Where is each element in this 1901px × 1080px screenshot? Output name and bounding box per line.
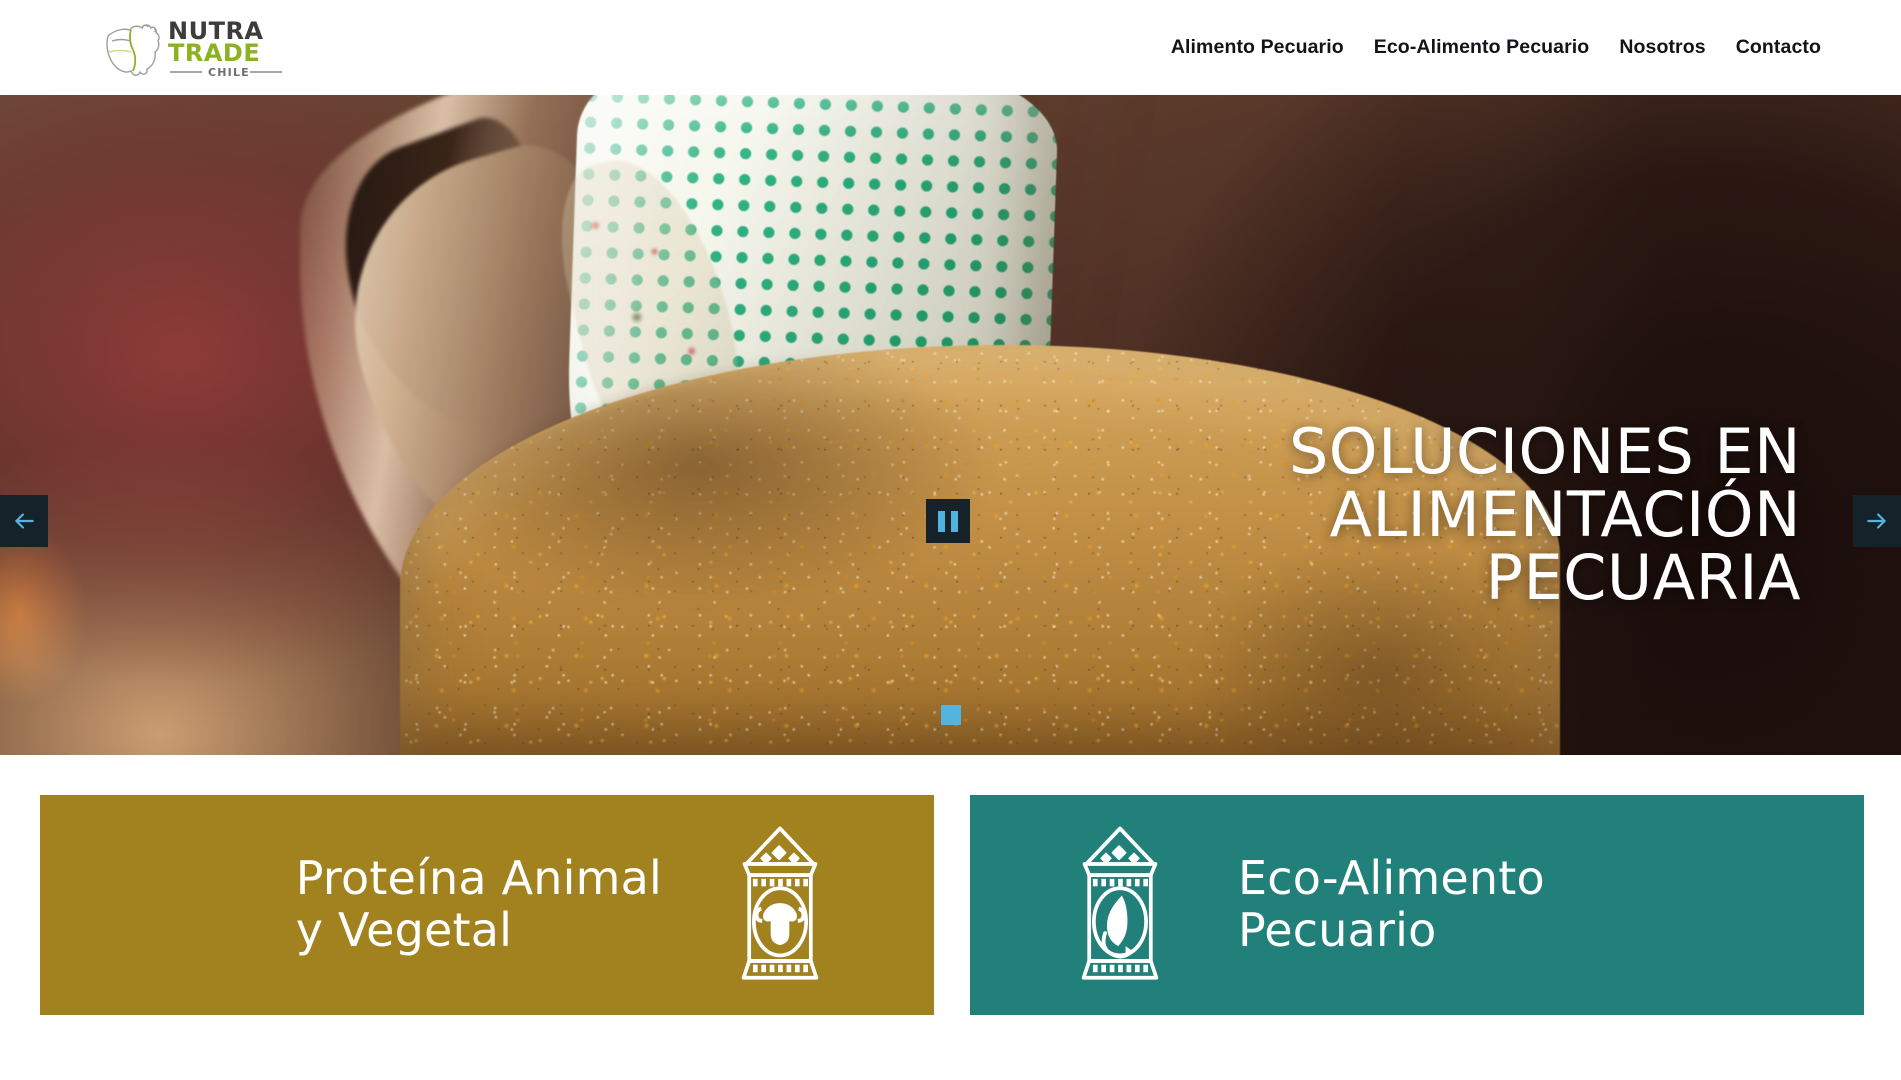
arrow-left-icon [11,508,37,534]
slider-pause-button[interactable] [926,499,970,543]
card-eco-alimento-pecuario[interactable]: Eco-Alimento Pecuario [970,795,1864,1015]
slider-pagination [0,705,1901,725]
feed-sack-leaf-icon [1064,821,1176,989]
pause-icon-bar [951,511,958,532]
nutra-trade-chile-logo-icon: NUTRA TRADE CHILE [98,14,284,80]
site-header: NUTRA TRADE CHILE Alimento Pecuario Eco-… [0,0,1901,95]
slider-next-button[interactable] [1853,495,1901,547]
card-proteina-animal-y-vegetal[interactable]: Proteína Animal y Vegetal [40,795,934,1015]
slider-prev-button[interactable] [0,495,48,547]
feature-cards: Proteína Animal y Vegetal [0,755,1901,1080]
svg-text:TRADE: TRADE [168,39,260,67]
nav-nosotros[interactable]: Nosotros [1609,0,1715,95]
card-title: Eco-Alimento Pecuario [1238,853,1545,956]
slider-dot-1[interactable] [941,705,961,725]
nav-eco-alimento-pecuario[interactable]: Eco-Alimento Pecuario [1364,0,1600,95]
svg-text:CHILE: CHILE [208,66,250,79]
card-title: Proteína Animal y Vegetal [296,853,662,956]
hero-slider: SOLUCIONES EN ALIMENTACIÓN PECUARIA [0,95,1901,755]
nav-contacto[interactable]: Contacto [1726,0,1831,95]
site-logo[interactable]: NUTRA TRADE CHILE [98,14,284,80]
pause-icon-bar [938,511,945,532]
feed-sack-cow-icon [724,821,836,989]
nav-alimento-pecuario[interactable]: Alimento Pecuario [1161,0,1354,95]
arrow-right-icon [1864,508,1890,534]
main-navigation: Alimento Pecuario Eco-Alimento Pecuario … [1161,0,1831,95]
